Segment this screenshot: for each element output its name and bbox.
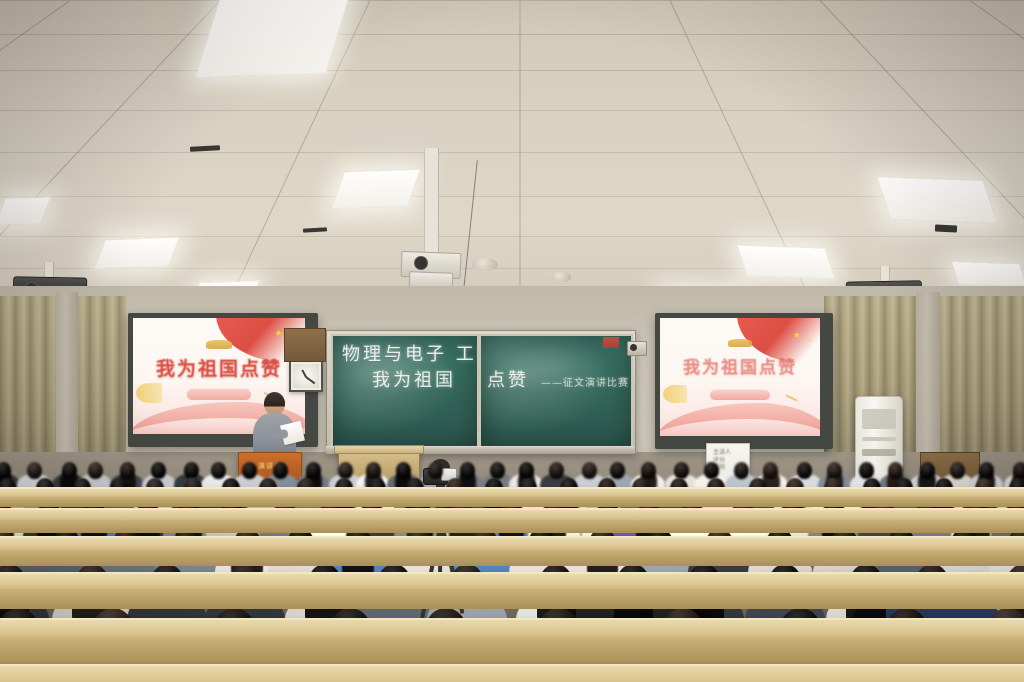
student-desk-front-panel <box>0 638 1024 664</box>
audience-member-head <box>734 462 749 479</box>
audience-member-head <box>460 462 475 479</box>
audience-member-head <box>428 462 443 479</box>
slide-emblem <box>206 340 232 349</box>
projector-mount-pole <box>424 148 439 260</box>
slide-emblem <box>728 339 752 347</box>
slide-ray <box>785 394 798 401</box>
right-projector-pole <box>880 266 890 282</box>
wall-cabinet <box>284 328 326 362</box>
audience-member-head <box>306 462 321 479</box>
audience-member-head <box>338 462 353 479</box>
blackboard-right-panel: 物理与电子 工程学院 点赞 ——征文演讲比赛 <box>479 334 633 450</box>
audience-member-head <box>490 462 506 479</box>
wall-camera-lens <box>630 344 637 351</box>
ceiling-light-panel <box>876 176 998 224</box>
blackboard-line1-left: 物理与电子 工程学院 <box>342 340 479 366</box>
left-slide-title: 我为祖国点赞 <box>133 354 305 381</box>
stage-lectern-top <box>334 445 424 454</box>
ceiling-speaker <box>551 272 571 282</box>
wall-clock <box>289 360 323 392</box>
audience-member-head <box>827 462 843 479</box>
blackboard-line2-right: 点赞 <box>487 366 529 392</box>
window-curtain-right-2 <box>936 296 1024 472</box>
ceiling-light-panel <box>736 244 836 279</box>
slide-accent-bar <box>186 388 252 401</box>
audience-member-head <box>919 462 934 479</box>
audience-member-head <box>641 462 657 480</box>
projector-lens <box>414 256 428 270</box>
ceiling-speaker <box>472 258 498 271</box>
right-projection-screen: ★ ★ 我为祖国点赞 <box>660 318 820 436</box>
student-desk-front-panel <box>0 589 1024 609</box>
ceiling-vent <box>935 224 957 232</box>
ceiling-light-panel <box>951 261 1024 287</box>
right-slide-title: 我为祖国点赞 <box>660 353 820 378</box>
audience-member-head <box>979 462 994 479</box>
ceiling <box>0 0 1024 320</box>
slide-star-icon: ★ <box>793 330 801 341</box>
slide-star-icon: ★ <box>808 338 812 344</box>
slide-star-icon: ★ <box>275 328 283 339</box>
right-slide: ★ ★ 我为祖国点赞 <box>660 318 820 436</box>
audience-member-head <box>797 462 812 479</box>
audience-member-head <box>610 462 625 479</box>
audience-member-head <box>703 462 719 480</box>
audience-member-head <box>396 462 412 480</box>
slide-fan-graphic <box>136 383 162 403</box>
blackboard-line2-left: 我为祖国 <box>372 366 456 392</box>
presenter-head <box>264 392 285 415</box>
student-desk-front-panel <box>0 497 1024 507</box>
audience-member-head <box>949 462 965 480</box>
audience-member-head <box>242 462 257 479</box>
ceiling-light-panel <box>331 169 421 210</box>
clock-face <box>293 364 319 388</box>
audience-member-head <box>210 462 226 480</box>
audience-member-head <box>1013 462 1024 479</box>
ac-display <box>862 449 897 456</box>
left-projector-pole <box>44 262 54 278</box>
ac-vent <box>862 409 897 429</box>
slide-accent-bar <box>709 389 771 401</box>
audience-member-head <box>183 462 199 480</box>
ac-vent <box>862 437 897 441</box>
student-desk-front-panel <box>0 520 1024 533</box>
blackboard-subtitle: ——征文演讲比赛 <box>541 374 629 389</box>
clock-minute-hand <box>306 376 316 384</box>
audience-member-head <box>519 462 535 479</box>
ceiling-tile-grid <box>0 0 1024 320</box>
window-curtain-left <box>0 296 58 478</box>
audience-member-head <box>120 462 135 479</box>
slide-fan-graphic <box>663 385 687 403</box>
ceiling-light-panel <box>195 0 352 78</box>
flag-decor <box>603 337 619 348</box>
lecture-hall-photo: 物理与电子 工程学院 我为祖国 物理与电子 工程学院 点赞 ——征文演讲比赛 ★… <box>0 0 1024 682</box>
student-desk <box>0 664 1024 682</box>
audience-member-head <box>273 462 288 479</box>
audience-member-head <box>62 462 77 479</box>
ceiling-light-panel <box>94 237 180 270</box>
audience-member-head <box>859 462 874 479</box>
blackboard-left-panel: 物理与电子 工程学院 我为祖国 <box>331 334 479 450</box>
audience-member-head <box>26 462 42 480</box>
window-curtain-left-2 <box>74 296 126 472</box>
audience-member-head <box>88 462 103 479</box>
student-desk-front-panel <box>0 550 1024 566</box>
audience-member-head <box>888 462 904 480</box>
audience-member-head <box>366 462 382 480</box>
